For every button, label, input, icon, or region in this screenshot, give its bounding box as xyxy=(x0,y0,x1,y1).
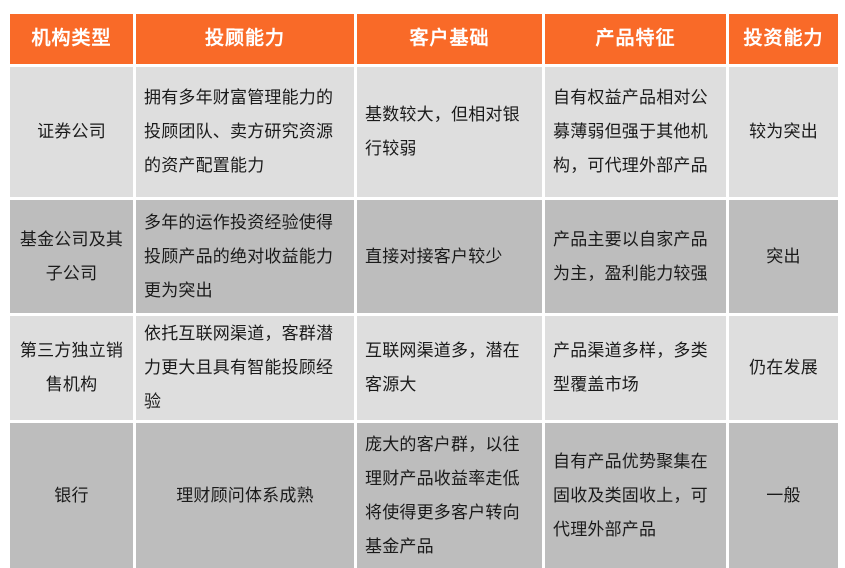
column-header-label: 客户基础 xyxy=(357,22,542,56)
cell-text: 一般 xyxy=(737,479,830,513)
column-header-label: 投资能力 xyxy=(729,22,838,56)
column-header-label: 投顾能力 xyxy=(136,22,354,56)
column-header-product-features: 产品特征 xyxy=(545,14,726,64)
table-row: 证券公司 拥有多年财富管理能力的投顾团队、卖方研究资源的资产配置能力 基数较大，… xyxy=(10,67,838,197)
table-row: 基金公司及其子公司 多年的运作投资经验使得投顾产品的绝对收益能力更为突出 直接对… xyxy=(10,200,838,313)
cell-client-base: 基数较大，但相对银行较弱 xyxy=(357,67,542,197)
column-header-institution-type: 机构类型 xyxy=(10,14,133,64)
cell-text: 银行 xyxy=(18,479,125,513)
cell-investment-capability: 较为突出 xyxy=(729,67,838,197)
cell-investment-capability: 突出 xyxy=(729,200,838,313)
cell-text: 基数较大，但相对银行较弱 xyxy=(365,98,534,166)
column-header-label: 产品特征 xyxy=(545,22,726,56)
cell-advisory-capability: 理财顾问体系成熟 xyxy=(136,423,354,568)
cell-advisory-capability: 多年的运作投资经验使得投顾产品的绝对收益能力更为突出 xyxy=(136,200,354,313)
cell-text: 互联网渠道多，潜在客源大 xyxy=(365,334,534,402)
cell-product-features: 自有产品优势聚集在固收及类固收上，可代理外部产品 xyxy=(545,423,726,568)
cell-product-features: 产品主要以自家产品为主，盈利能力较强 xyxy=(545,200,726,313)
column-header-advisory-capability: 投顾能力 xyxy=(136,14,354,64)
table-row: 银行 理财顾问体系成熟 庞大的客户群，以往理财产品收益率走低将使得更多客户转向基… xyxy=(10,423,838,568)
cell-client-base: 庞大的客户群，以往理财产品收益率走低将使得更多客户转向基金产品 xyxy=(357,423,542,568)
cell-text: 自有产品优势聚集在固收及类固收上，可代理外部产品 xyxy=(553,445,718,547)
cell-text: 产品渠道多样，多类型覆盖市场 xyxy=(553,334,718,402)
cell-institution-type: 第三方独立销售机构 xyxy=(10,316,133,420)
table-header-row: 机构类型 投顾能力 客户基础 产品特征 投资能力 xyxy=(10,14,838,64)
institution-comparison-table: 机构类型 投顾能力 客户基础 产品特征 投资能力 证券公司 拥有多年财富管理能力… xyxy=(10,14,838,568)
cell-text: 产品主要以自家产品为主，盈利能力较强 xyxy=(553,223,718,291)
cell-text: 较为突出 xyxy=(737,115,830,149)
cell-product-features: 自有权益产品相对公募薄弱但强于其他机构，可代理外部产品 xyxy=(545,67,726,197)
cell-client-base: 互联网渠道多，潜在客源大 xyxy=(357,316,542,420)
cell-text: 第三方独立销售机构 xyxy=(18,334,125,402)
cell-institution-type: 证券公司 xyxy=(10,67,133,197)
cell-text: 突出 xyxy=(737,240,830,274)
table-row: 第三方独立销售机构 依托互联网渠道，客群潜力更大且具有智能投顾经验 互联网渠道多… xyxy=(10,316,838,420)
cell-text: 依托互联网渠道，客群潜力更大且具有智能投顾经验 xyxy=(144,317,346,419)
cell-institution-type: 银行 xyxy=(10,423,133,568)
cell-investment-capability: 仍在发展 xyxy=(729,316,838,420)
cell-text: 拥有多年财富管理能力的投顾团队、卖方研究资源的资产配置能力 xyxy=(144,81,346,183)
cell-advisory-capability: 拥有多年财富管理能力的投顾团队、卖方研究资源的资产配置能力 xyxy=(136,67,354,197)
cell-text: 基金公司及其子公司 xyxy=(18,223,125,291)
cell-text: 理财顾问体系成熟 xyxy=(144,479,346,513)
cell-institution-type: 基金公司及其子公司 xyxy=(10,200,133,313)
cell-product-features: 产品渠道多样，多类型覆盖市场 xyxy=(545,316,726,420)
cell-investment-capability: 一般 xyxy=(729,423,838,568)
cell-text: 庞大的客户群，以往理财产品收益率走低将使得更多客户转向基金产品 xyxy=(365,428,534,564)
cell-text: 直接对接客户较少 xyxy=(365,240,534,274)
column-header-label: 机构类型 xyxy=(10,22,133,56)
column-header-client-base: 客户基础 xyxy=(357,14,542,64)
column-header-investment-capability: 投资能力 xyxy=(729,14,838,64)
cell-text: 证券公司 xyxy=(18,115,125,149)
cell-advisory-capability: 依托互联网渠道，客群潜力更大且具有智能投顾经验 xyxy=(136,316,354,420)
cell-client-base: 直接对接客户较少 xyxy=(357,200,542,313)
cell-text: 仍在发展 xyxy=(737,351,830,385)
cell-text: 自有权益产品相对公募薄弱但强于其他机构，可代理外部产品 xyxy=(553,81,718,183)
cell-text: 多年的运作投资经验使得投顾产品的绝对收益能力更为突出 xyxy=(144,206,346,308)
